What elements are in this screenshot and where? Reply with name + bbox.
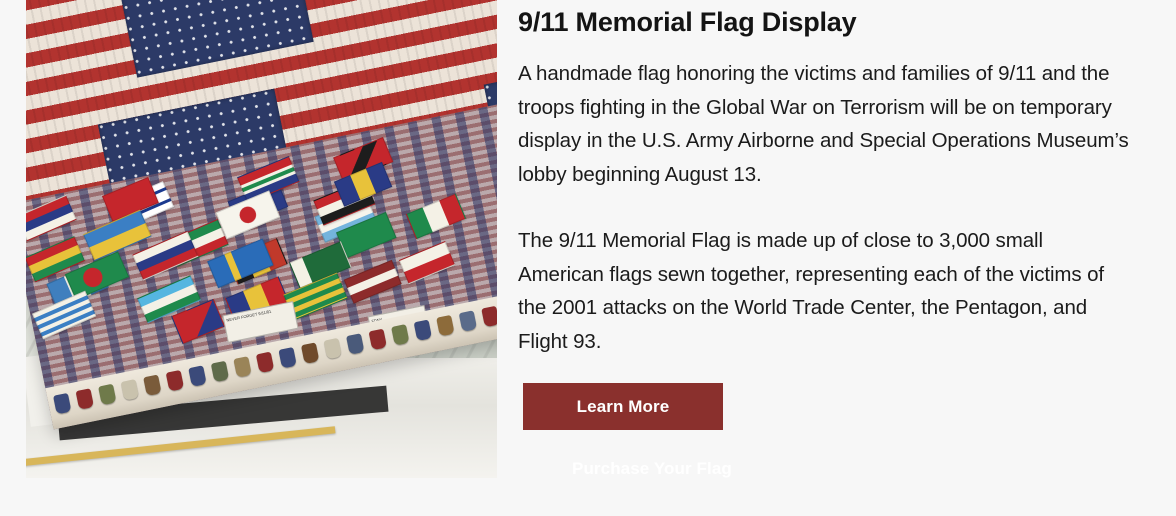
military-patch	[414, 319, 432, 341]
military-patch	[256, 352, 274, 374]
learn-more-button[interactable]: Learn More	[523, 383, 723, 430]
military-patch	[323, 338, 341, 360]
military-patch	[121, 379, 139, 401]
body-paragraph-2: The 9/11 Memorial Flag is made up of clo…	[518, 224, 1112, 358]
military-patch	[278, 347, 296, 369]
military-patch	[143, 375, 161, 397]
military-patch	[346, 333, 364, 355]
promo-card: NEVER FORGET 9/11/01FDNY 9/11 Memorial F…	[0, 0, 1176, 516]
military-patch	[369, 329, 387, 351]
military-patch	[391, 324, 409, 346]
cta-row: Learn More Purchase Your Flag	[518, 383, 1142, 493]
page-title: 9/11 Memorial Flag Display	[518, 0, 1142, 38]
military-patch	[211, 361, 229, 383]
text-column: 9/11 Memorial Flag Display A handmade fl…	[518, 0, 1142, 493]
memorial-flag-photo: NEVER FORGET 9/11/01FDNY	[26, 0, 497, 478]
military-patch	[436, 315, 454, 337]
military-patch	[53, 393, 71, 415]
military-patch	[188, 365, 206, 387]
media-column: NEVER FORGET 9/11/01FDNY	[26, 0, 497, 478]
military-patch	[459, 310, 477, 332]
military-patch	[76, 388, 94, 410]
military-patch	[98, 384, 116, 406]
purchase-your-flag-button[interactable]: Purchase Your Flag	[566, 445, 806, 492]
military-patch	[166, 370, 184, 392]
military-patch	[481, 306, 497, 328]
military-patch	[233, 356, 251, 378]
body-paragraph-1: A handmade flag honoring the victims and…	[518, 57, 1132, 191]
military-patch	[301, 342, 319, 364]
